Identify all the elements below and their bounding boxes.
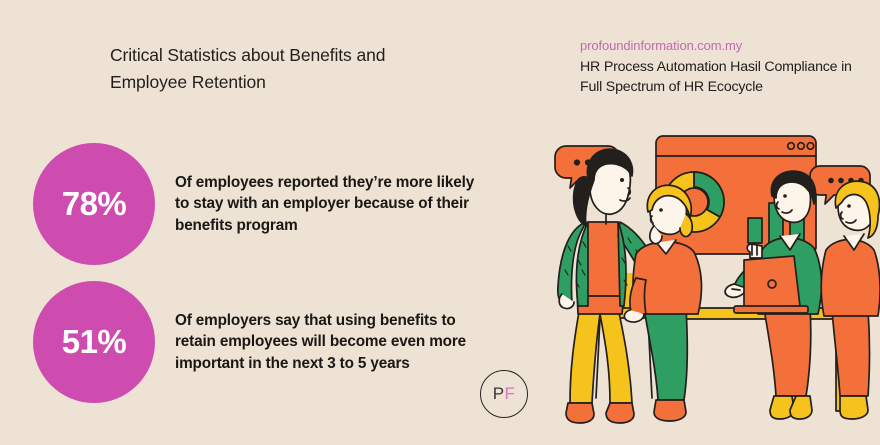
stat-badge-51: 51% xyxy=(33,281,155,403)
person-far-right xyxy=(821,181,880,419)
page-title: Critical Statistics about Benefits and E… xyxy=(110,42,440,96)
stat-row: 51% Of employers say that using benefits… xyxy=(33,281,487,403)
stat-percent: 78% xyxy=(62,185,127,223)
office-team-presentation-illustration: .ln { fill:none; stroke:#231F1C; stroke-… xyxy=(548,118,880,440)
stat-description: Of employers say that using benefits to … xyxy=(175,310,487,375)
stat-row: 78% Of employees reported they’re more l… xyxy=(33,143,487,265)
source-headline: HR Process Automation Hasil Compliance i… xyxy=(580,58,868,97)
logo-letter-f: F xyxy=(504,384,515,404)
stat-description: Of employees reported they’re more likel… xyxy=(175,172,487,237)
source-url: profoundinformation.com.my xyxy=(580,38,742,53)
stat-percent: 51% xyxy=(62,323,127,361)
brand-logo: PF xyxy=(480,370,528,418)
stat-badge-78: 78% xyxy=(33,143,155,265)
infographic-canvas: Critical Statistics about Benefits and E… xyxy=(0,0,880,440)
logo-letter-p: P xyxy=(493,384,505,404)
seated-person-blonde xyxy=(624,185,701,421)
